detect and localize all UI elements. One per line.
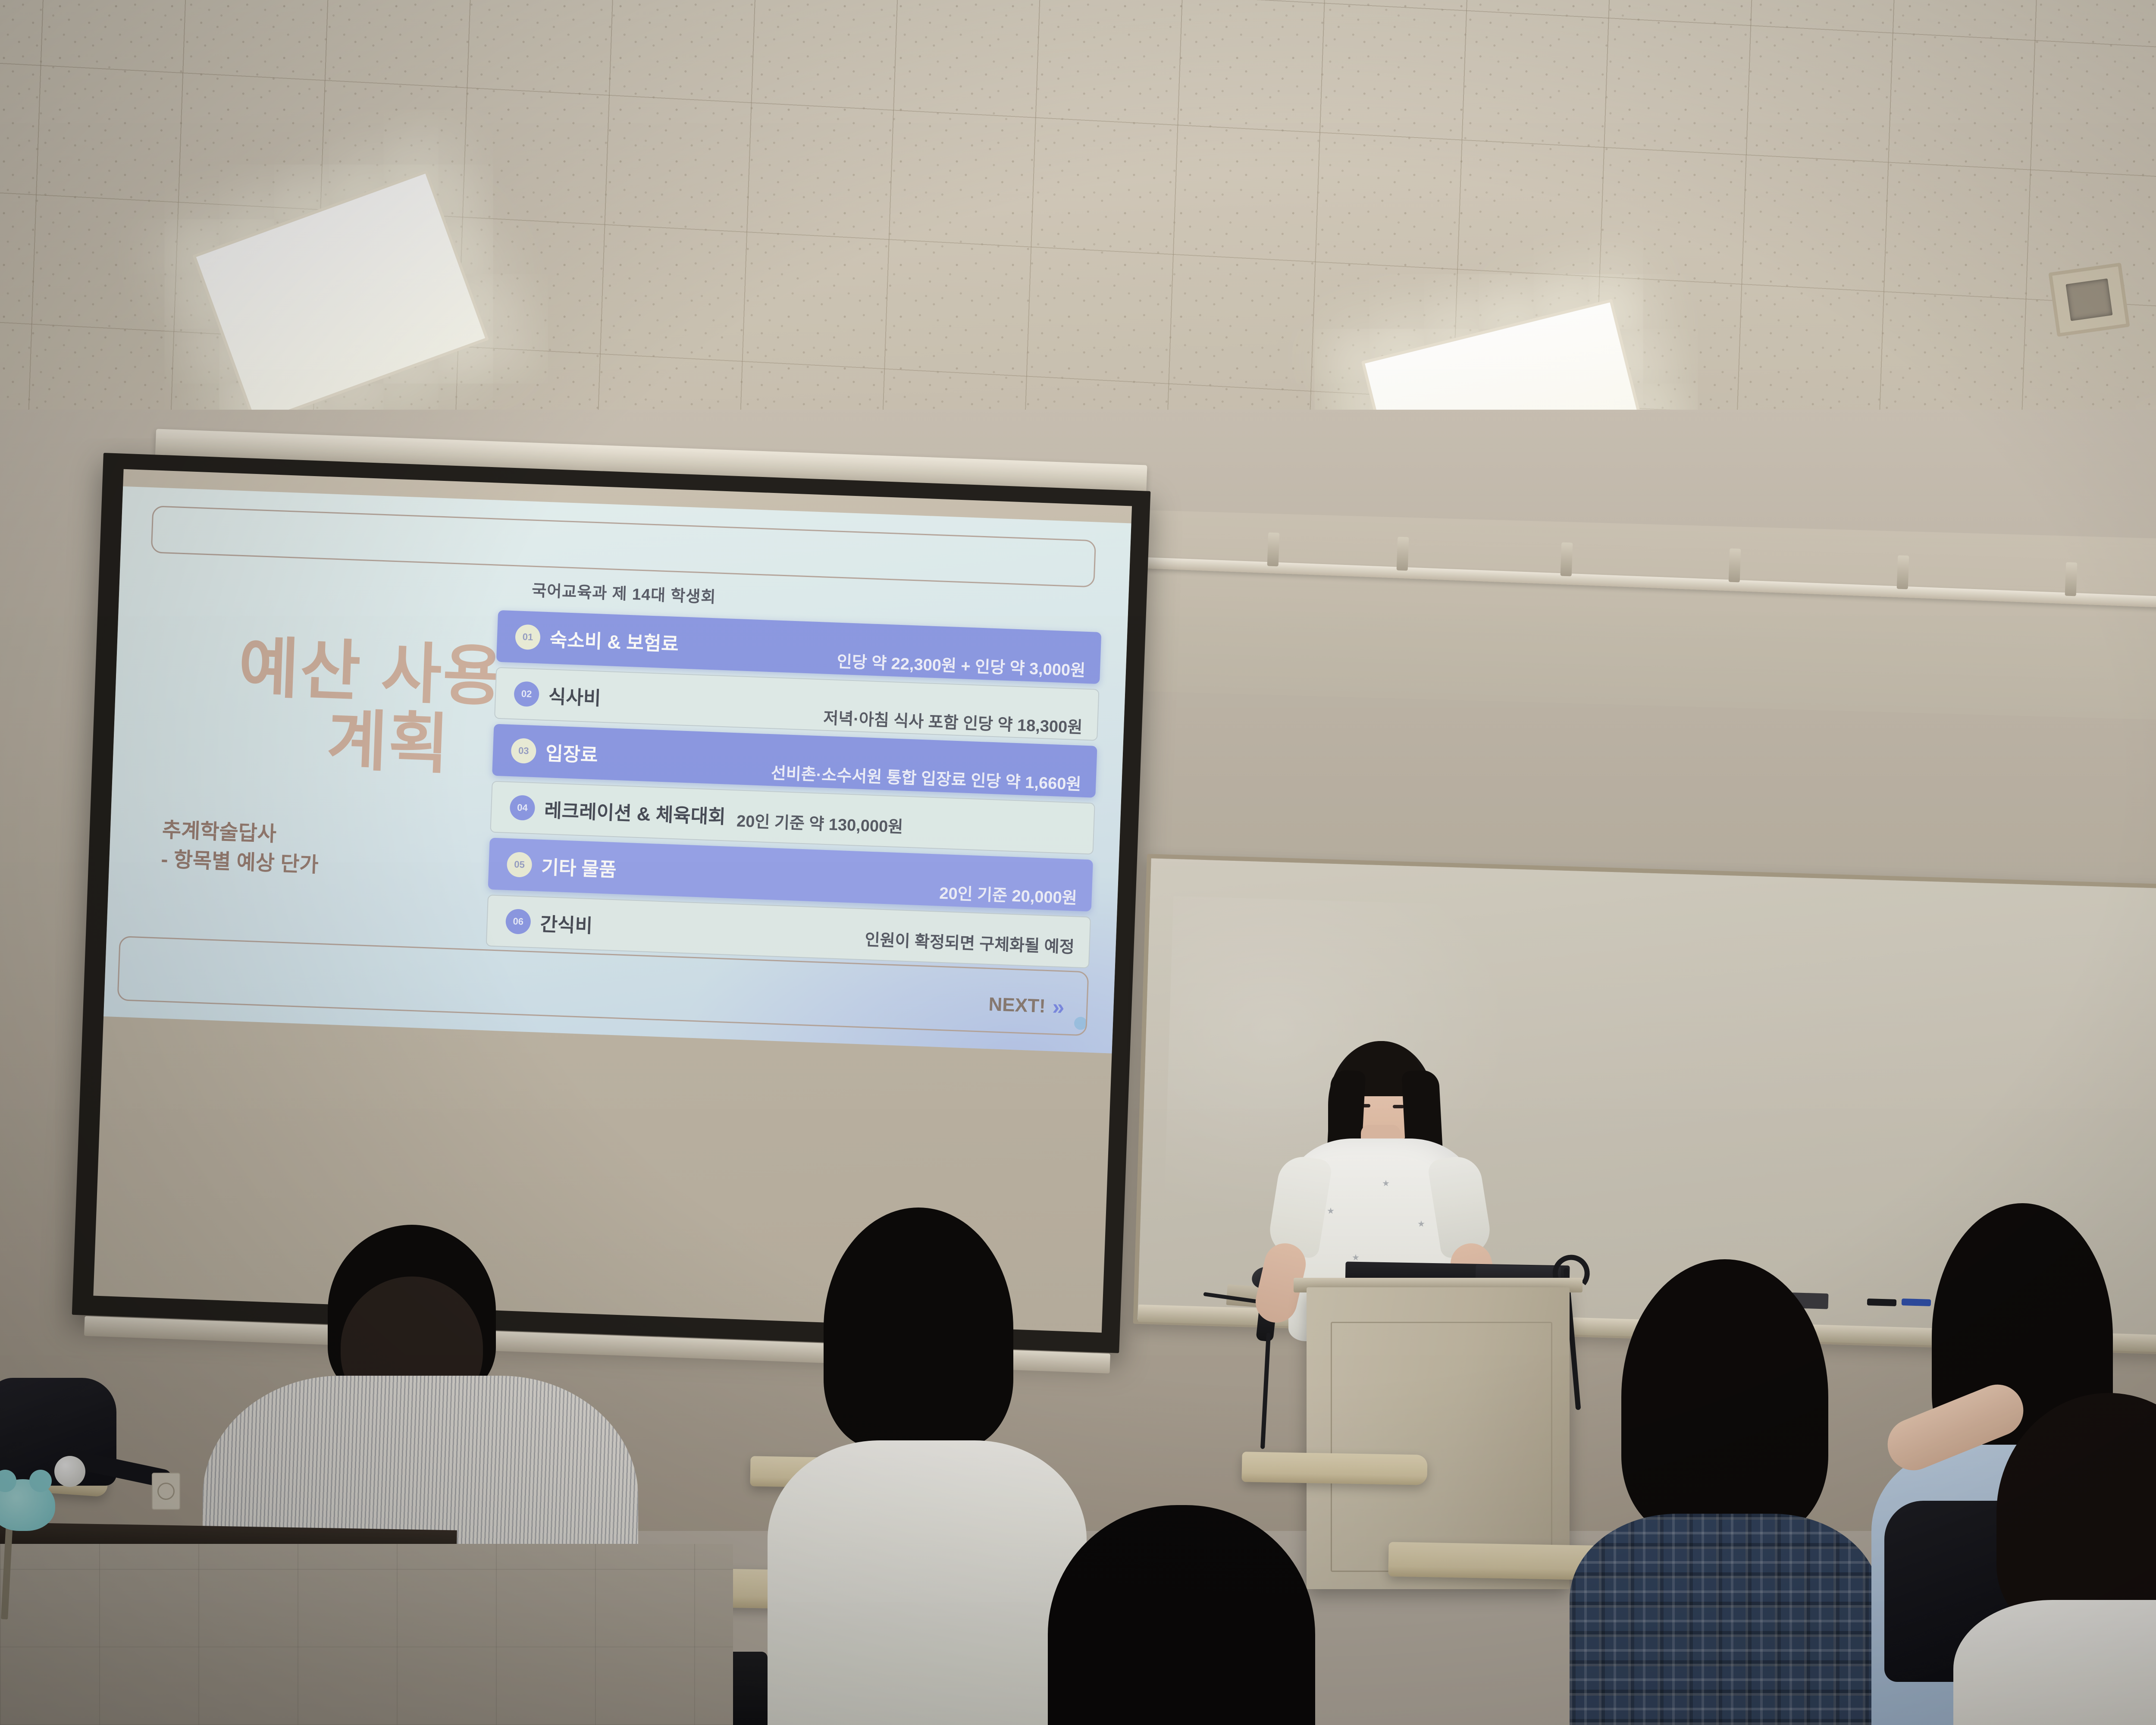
student-desk <box>1241 1452 1427 1485</box>
audience-member <box>1583 1259 1893 1725</box>
shirt-star-motif <box>1352 1254 1359 1261</box>
ceiling-speaker <box>2048 263 2130 337</box>
backpack-charm <box>54 1456 85 1487</box>
rail-clip <box>1397 537 1409 571</box>
presenter-eye <box>1393 1105 1404 1108</box>
slide-title: 예산 사용 계획 <box>164 630 505 782</box>
audience-torso <box>1953 1600 2156 1725</box>
projected-slide: 국어교육과 제 14대 학생회 예산 사용 계획 추계학술답사 - 항목별 예상… <box>103 486 1131 1054</box>
chevron-right-icon: » <box>1052 994 1062 1020</box>
row-label: 입장료 <box>545 738 599 767</box>
screen-surface: 국어교육과 제 14대 학생회 예산 사용 계획 추계학술답사 - 항목별 예상… <box>93 469 1132 1333</box>
audience-member <box>1910 1393 2156 1725</box>
audience-torso <box>1570 1514 1880 1725</box>
plush-keychain <box>0 1479 55 1531</box>
slide-subtitle: 추계학술답사 - 항목별 예상 단가 <box>160 816 464 886</box>
slide-subtitle-line1: 추계학술답사 <box>162 819 277 846</box>
audience-member <box>793 1207 1061 1725</box>
lecture-room-photo: 국어교육과 제 14대 학생회 예산 사용 계획 추계학술답사 - 항목별 예상… <box>0 0 2156 1725</box>
rail-clip <box>1561 543 1573 577</box>
audience-hair <box>1048 1505 1315 1725</box>
slide-subtitle-line2: - 항목별 예상 단가 <box>160 845 463 886</box>
slide-title-line1: 예산 사용 <box>167 630 505 712</box>
row-value: 저녁·아침 식사 포함 인당 약 18,300원 <box>823 704 1098 738</box>
wall-outlet <box>152 1473 180 1510</box>
shirt-star-motif <box>1327 1207 1334 1214</box>
row-label: 레크레이션 & 체육대회 <box>544 795 726 829</box>
rail-clip <box>2065 562 2078 596</box>
rail-clip <box>1729 549 1741 583</box>
row-value: 20인 기준 20,000원 <box>939 879 1092 909</box>
slide-title-line2: 계획 <box>164 700 503 782</box>
row-value: 인원이 확정되면 구체화될 예정 <box>865 926 1090 958</box>
rail-clip <box>1897 555 1909 590</box>
row-number-badge: 06 <box>505 909 531 935</box>
audience-torso <box>768 1440 1087 1725</box>
shirt-star-motif <box>1382 1180 1389 1187</box>
row-label: 숙소비 & 보험료 <box>549 624 679 656</box>
row-label: 간식비 <box>540 909 593 938</box>
floor <box>0 1544 733 1725</box>
audience-hair <box>1996 1393 2156 1634</box>
podium-front-panel <box>1331 1322 1552 1572</box>
row-value: 20인 기준 약 130,000원 <box>736 807 918 837</box>
audience-hair <box>1621 1259 1828 1535</box>
row-label: 기타 물품 <box>541 852 617 882</box>
row-number-badge: 01 <box>515 624 541 650</box>
next-button: NEXT! » <box>988 992 1062 1019</box>
row-value: 선비촌·소수서원 통합 입장료 인당 약 1,660원 <box>771 759 1096 795</box>
row-value: 인당 약 22,300원 + 인당 약 3,000원 <box>837 648 1100 681</box>
budget-row-list: 01 숙소비 & 보험료 인당 약 22,300원 + 인당 약 3,000원 … <box>486 610 1101 974</box>
next-label: NEXT! <box>988 994 1046 1017</box>
row-label: 식사비 <box>548 681 602 710</box>
row-number-badge: 02 <box>514 681 539 707</box>
row-number-badge: 05 <box>507 852 533 878</box>
shirt-star-motif <box>1418 1220 1425 1227</box>
row-number-badge: 04 <box>509 795 535 821</box>
row-number-badge: 03 <box>511 738 536 764</box>
audience-member <box>1048 1505 1315 1725</box>
rail-clip <box>1267 533 1280 567</box>
audience-hair <box>824 1207 1013 1449</box>
